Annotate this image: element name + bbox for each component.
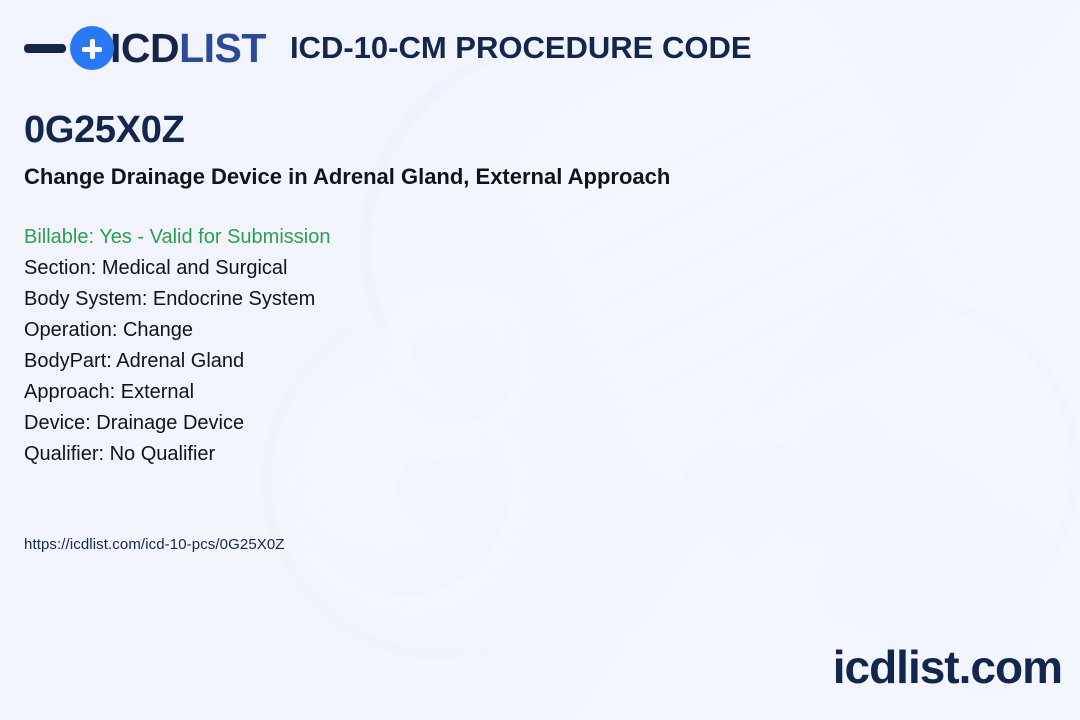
attribute-row-body-system: Body System: Endocrine System [24,284,924,315]
icdlist-logo[interactable]: ICDLIST [24,26,266,70]
billable-status: Billable: Yes - Valid for Submission [24,222,924,253]
attribute-list: Section: Medical and Surgical Body Syste… [24,253,924,470]
footer-brand-wordmark: icdlist.com [833,640,1062,694]
source-url-link[interactable]: https://icdlist.com/icd-10-pcs/0G25X0Z [24,536,285,553]
attribute-row-body-part: BodyPart: Adrenal Gland [24,346,924,377]
paper-heart-shape [695,455,800,560]
page-title: ICD-10-CM PROCEDURE CODE [290,30,752,66]
plus-icon [70,26,114,70]
horizontal-dash-icon [24,44,66,53]
icd-code-card: ICDLIST ICD-10-CM PROCEDURE CODE 0G25X0Z… [0,0,1080,720]
page-header: ICDLIST ICD-10-CM PROCEDURE CODE [24,26,752,70]
attribute-row-approach: Approach: External [24,377,924,408]
logo-word-list: LIST [179,25,266,71]
code-details-panel: 0G25X0Z Change Drainage Device in Adrena… [24,108,924,470]
paper-heart-shape [406,466,488,548]
attribute-row-section: Section: Medical and Surgical [24,253,924,284]
procedure-description: Change Drainage Device in Adrenal Gland,… [24,163,924,191]
logo-wordmark: ICDLIST [110,28,266,69]
logo-word-icd: ICD [110,25,179,71]
attribute-row-operation: Operation: Change [24,315,924,346]
procedure-code: 0G25X0Z [24,108,924,153]
attribute-row-qualifier: Qualifier: No Qualifier [24,439,924,470]
attribute-row-device: Device: Drainage Device [24,408,924,439]
